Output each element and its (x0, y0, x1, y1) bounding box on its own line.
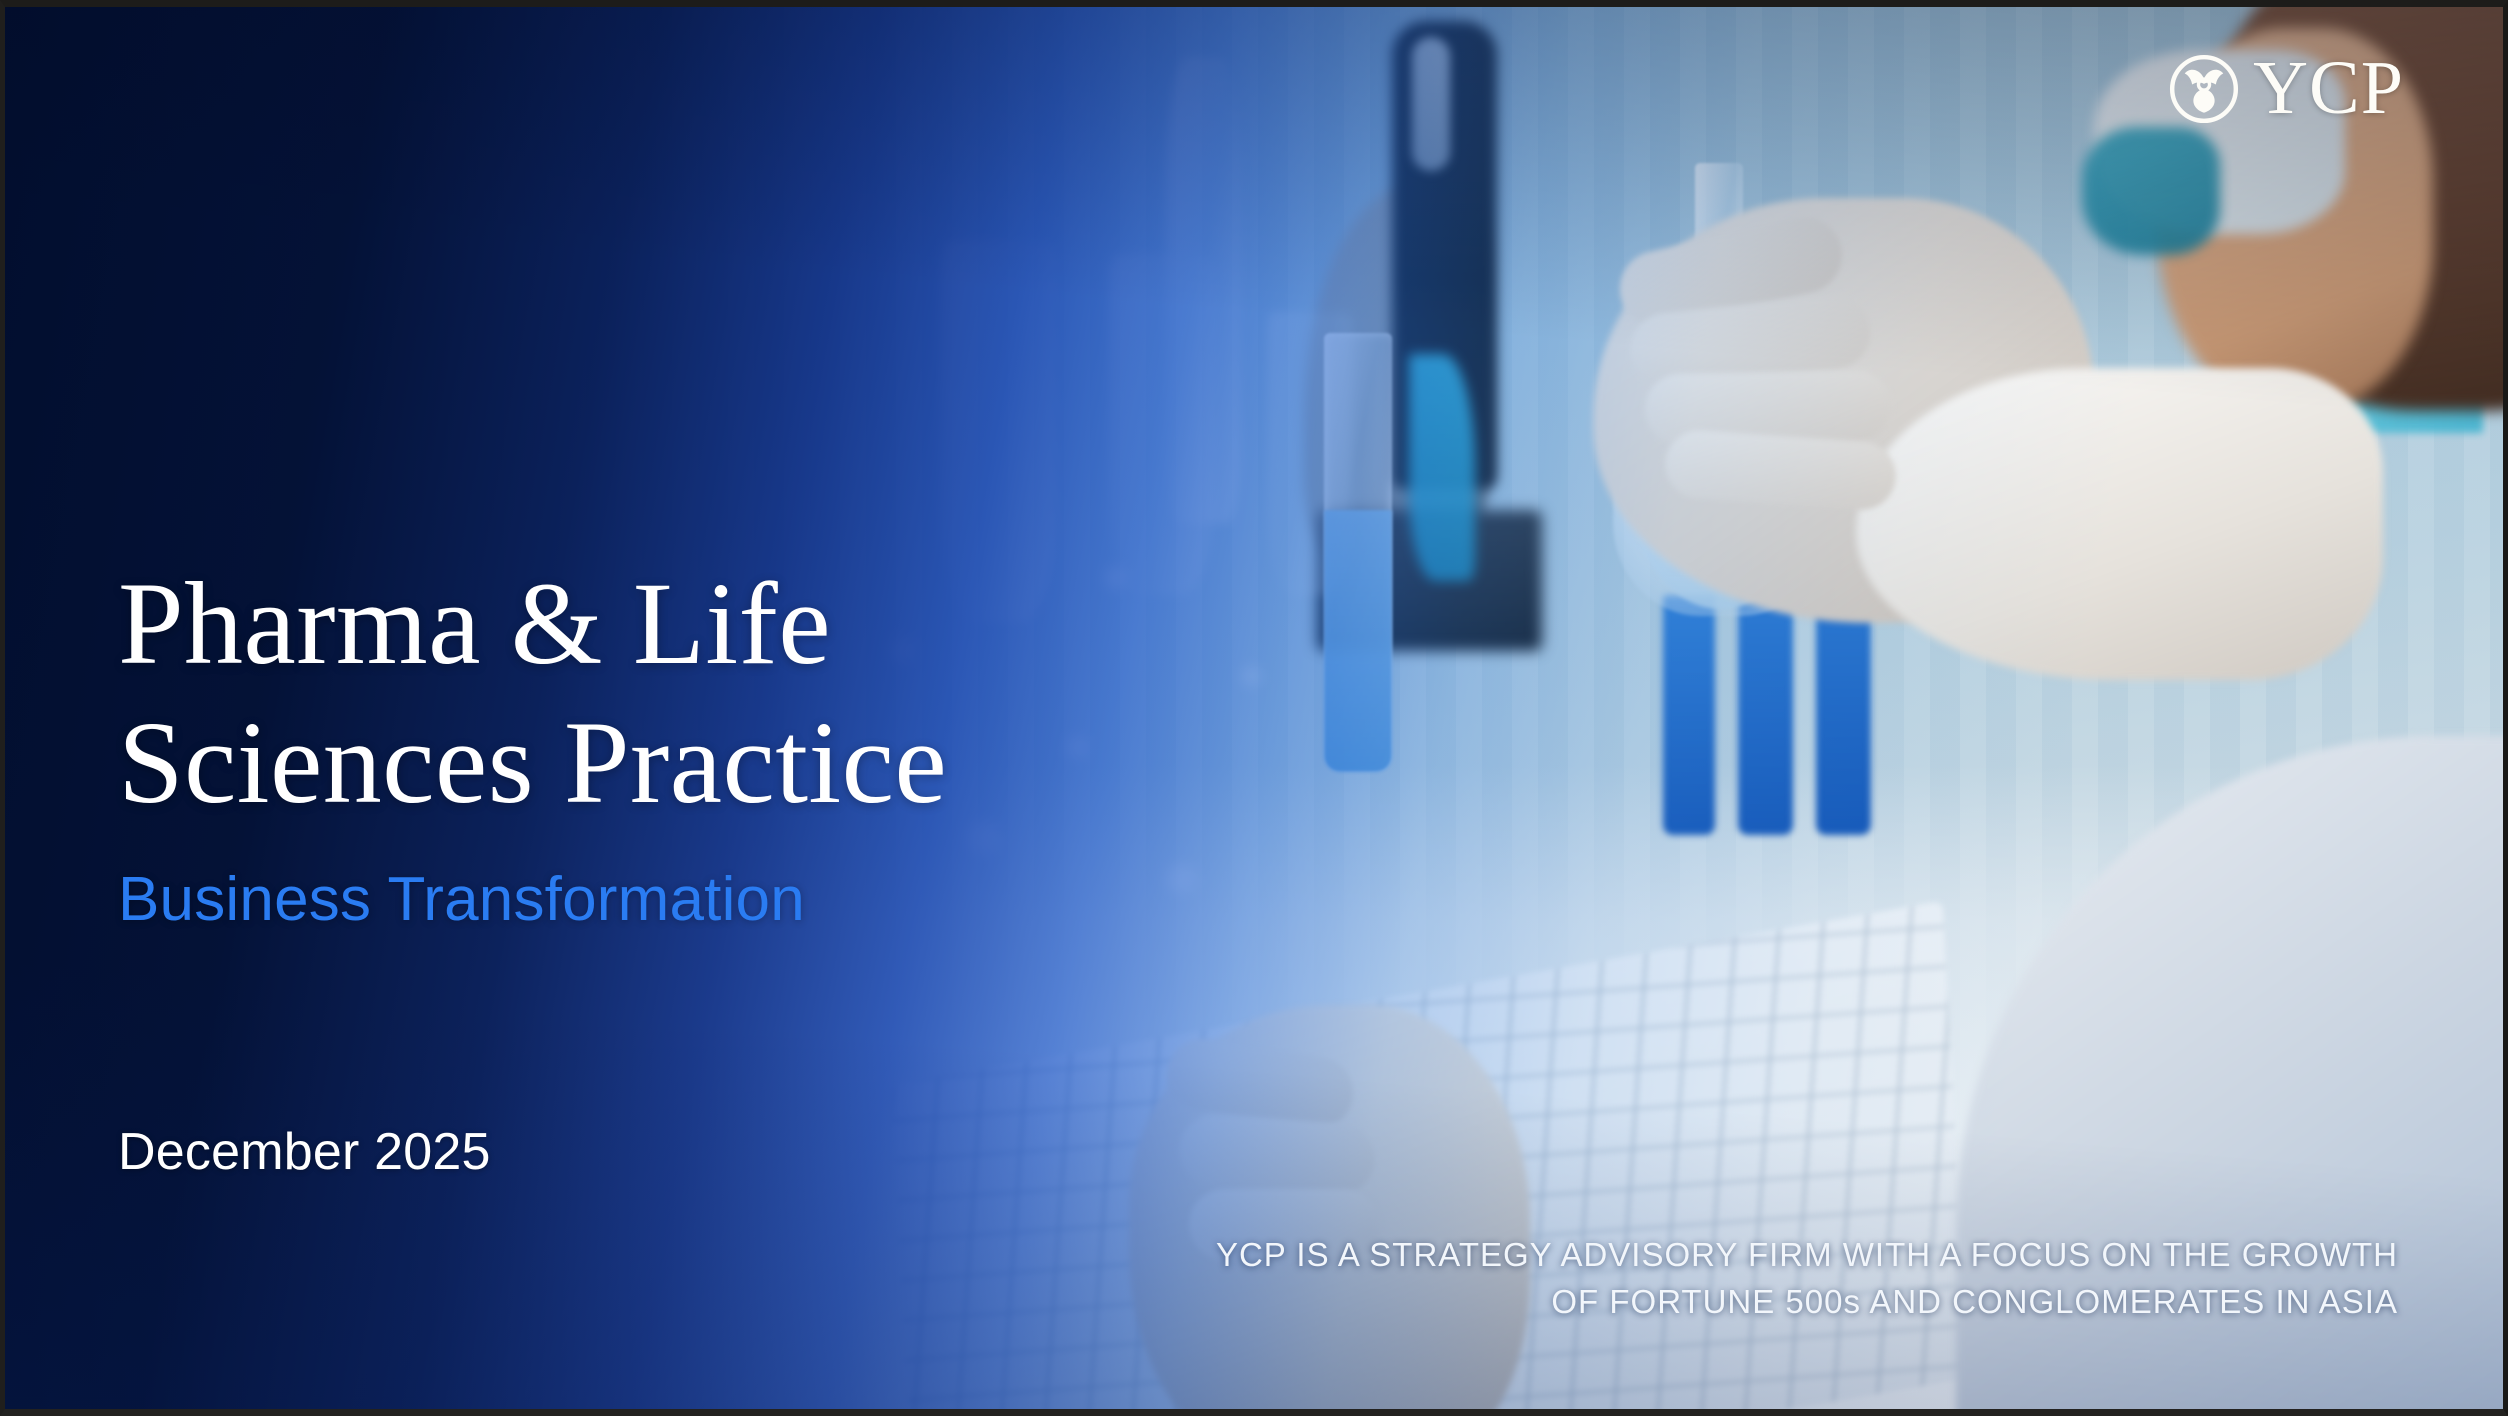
page-subtitle: Business Transformation (118, 866, 947, 934)
title-block: Pharma & Life Sciences Practice Business… (118, 554, 947, 935)
title-slide: YCP Pharma & Life Sciences Practice Busi… (0, 0, 2508, 1416)
ycp-circular-emblem-icon (2167, 52, 2241, 126)
ycp-wordmark: YCP (2253, 54, 2404, 124)
company-tagline: YCP IS A STRATEGY ADVISORY FIRM WITH A F… (1216, 1232, 2398, 1326)
ycp-logo: YCP (2167, 52, 2404, 126)
slide-content: YCP Pharma & Life Sciences Practice Busi… (0, 0, 2508, 1416)
presentation-date: December 2025 (118, 1122, 491, 1182)
tagline-line-1: YCP IS A STRATEGY ADVISORY FIRM WITH A F… (1216, 1232, 2398, 1279)
page-title: Pharma & Life Sciences Practice (118, 554, 947, 832)
tagline-line-2: OF FORTUNE 500s AND CONGLOMERATES IN ASI… (1216, 1279, 2398, 1326)
